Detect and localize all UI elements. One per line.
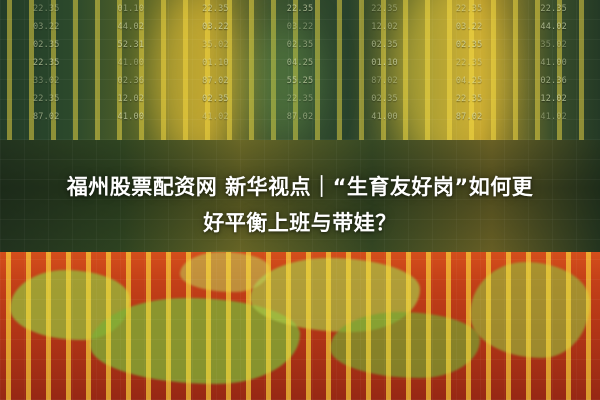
ticker-value: 01.10	[342, 58, 427, 76]
ticker-value: 02.35	[173, 94, 258, 112]
ticker-value: 35.02	[511, 40, 596, 58]
ticker-value: 41.00	[342, 112, 427, 130]
ticker-value: 22.35	[258, 94, 343, 112]
ticker-value: 22.35	[173, 4, 258, 22]
ticker-value: 02.35	[342, 40, 427, 58]
ticker-value: 44.02	[511, 22, 596, 40]
ticker-value: 03.22	[4, 22, 89, 40]
ticker-value: 41.00	[89, 58, 174, 76]
ticker-numbers: 22.3501.1022.3522.3522.3522.3522.3503.22…	[0, 0, 600, 150]
ticker-value: 55.25	[258, 76, 343, 94]
ticker-value: 02.35	[342, 94, 427, 112]
ticker-value: 22.35	[258, 4, 343, 22]
ticker-value: 41.02	[173, 112, 258, 130]
ticker-value: 22.35	[4, 4, 89, 22]
ticker-value: 22.35	[511, 4, 596, 22]
ticker-value: 41.00	[89, 112, 174, 130]
ticker-value: 44.02	[89, 22, 174, 40]
ticker-value: 04.25	[258, 58, 343, 76]
ticker-value: 02.35	[427, 40, 512, 58]
ticker-value: 87.02	[427, 112, 512, 130]
ticker-value: 01.10	[89, 4, 174, 22]
ticker-value: 03.22	[258, 22, 343, 40]
ticker-value: 22.35	[342, 4, 427, 22]
ticker-value: 12.02	[342, 22, 427, 40]
ticker-value: 12.02	[511, 94, 596, 112]
ticker-value: 03.22	[173, 22, 258, 40]
ticker-value: 02.35	[4, 40, 89, 58]
chart-band-bottom	[0, 252, 600, 400]
ticker-value: 02.36	[89, 76, 174, 94]
ticker-value: 02.35	[258, 40, 343, 58]
ticker-value: 03.22	[427, 22, 512, 40]
ticker-value: 52.31	[89, 40, 174, 58]
headline-line-1: 福州股票配资网 新华视点｜“生育友好岗”如何更	[67, 169, 533, 205]
candlestick-bars-bottom	[0, 252, 600, 400]
ticker-value: 22.35	[4, 58, 89, 76]
ticker-value: 22.35	[427, 58, 512, 76]
headline-overlay: 福州股票配资网 新华视点｜“生育友好岗”如何更 好平衡上班与带娃？	[0, 150, 600, 260]
ticker-value: 33.02	[4, 76, 89, 94]
ticker-value: 41.02	[511, 112, 596, 130]
ticker-value: 41.00	[511, 58, 596, 76]
ticker-value: 22.35	[427, 94, 512, 112]
ticker-value: 02.36	[511, 76, 596, 94]
ticker-value: 04.25	[427, 76, 512, 94]
ticker-value: 87.02	[342, 76, 427, 94]
ticker-value: 22.35	[4, 94, 89, 112]
ticker-value: 87.02	[258, 112, 343, 130]
ticker-value: 87.02	[173, 76, 258, 94]
ticker-value: 87.02	[4, 112, 89, 130]
ticker-value: 22.35	[427, 4, 512, 22]
ticker-value: 35.02	[173, 40, 258, 58]
ticker-value: 01.10	[173, 58, 258, 76]
headline-line-2: 好平衡上班与带娃？	[203, 205, 397, 241]
news-thumbnail: 22.3501.1022.3522.3522.3522.3522.3503.22…	[0, 0, 600, 400]
ticker-value: 12.02	[89, 94, 174, 112]
